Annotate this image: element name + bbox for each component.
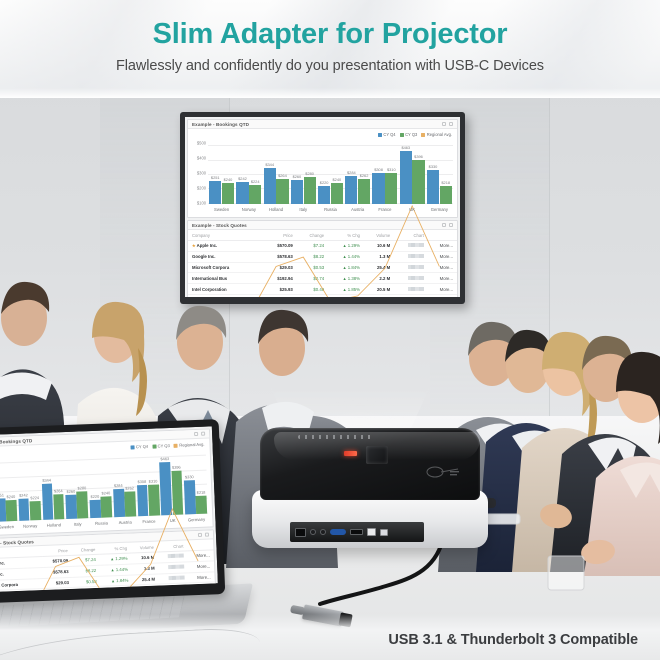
cell-sparkline xyxy=(394,273,428,284)
cell-pct-change: ▲ 1.38% xyxy=(101,585,133,592)
table-col-header[interactable]: Volume xyxy=(364,230,394,241)
audio-out-port-icon xyxy=(320,529,326,535)
legend-swatch-q3 xyxy=(152,444,156,448)
chart-bar-value-label: $284 xyxy=(347,170,356,175)
power-port-icon xyxy=(295,528,306,537)
chart-x-label: Italy xyxy=(66,519,90,532)
cell-price: $25.93 xyxy=(264,284,297,295)
bookings-panel-title: Example - Bookings QTD xyxy=(192,122,249,127)
table-col-header[interactable]: Price xyxy=(264,230,297,241)
chart-bar-value-label: $310 xyxy=(149,478,158,483)
usb-port-icon xyxy=(380,529,388,536)
bookings-panel: Example - Bookings QTD CY Q4 xyxy=(187,119,458,218)
table-col-header[interactable]: Change xyxy=(297,230,328,241)
gear-icon[interactable] xyxy=(449,223,453,227)
chart-bar-value-label: $240 xyxy=(333,177,342,182)
chart-bar-value-label: $264 xyxy=(278,173,287,178)
cell-volume: 20.5 M xyxy=(364,284,394,295)
compatibility-text: USB 3.1 & Thunderbolt 3 Compatible xyxy=(388,632,638,648)
chart-bar-q4: $260 xyxy=(291,180,303,204)
chart-bar-q3: $310 xyxy=(148,484,160,516)
cell-volume: 25.4 M xyxy=(364,262,394,273)
y-tick-100: $100 xyxy=(197,200,206,205)
chart-bar-value-label: $260 xyxy=(293,174,302,179)
cell-company: Google Inc. xyxy=(188,251,264,262)
total-pct: 1.70% xyxy=(328,294,364,297)
chart-bar-value-label: $251 xyxy=(0,492,4,497)
chart-plot-area: $251$240$242$224$344$264$260$280$220$240… xyxy=(208,144,453,204)
sparkline-icon xyxy=(408,243,424,247)
table-row[interactable]: Microsoft Corpora$29.03$0.53▲ 1.84%25.4 … xyxy=(188,262,457,273)
chart-bar-q4: $330 xyxy=(184,480,196,515)
sparkline-icon xyxy=(408,254,424,258)
footer-curve-accent xyxy=(0,626,261,660)
cell-sparkline xyxy=(394,284,428,295)
chart-bar-value-label: $240 xyxy=(101,490,110,495)
y-tick-400: $400 xyxy=(197,156,206,161)
gear-icon[interactable] xyxy=(201,432,205,436)
page-title: Slim Adapter for Projector xyxy=(0,18,660,51)
table-col-header[interactable] xyxy=(428,230,457,241)
chart-bar-group: $260$280 xyxy=(290,144,317,204)
chart-x-label: Holland xyxy=(262,205,289,217)
chart-bar-group: $330$218 xyxy=(182,454,208,515)
chart-bar-group: $463$396 xyxy=(158,455,184,516)
cell-pct-change: ▲ 1.84% xyxy=(328,262,364,273)
chart-x-label: France xyxy=(371,205,398,217)
cell-company: International Bus xyxy=(0,589,45,593)
chart-x-label: Austria xyxy=(113,517,137,530)
chart-bar-group: $242$224 xyxy=(16,460,42,521)
legend-item-q4: CY Q4 xyxy=(378,132,396,137)
chart-bar-q3: $240 xyxy=(222,183,234,204)
chart-bar-group: $344$264 xyxy=(40,459,66,520)
cell-more-link[interactable]: More... xyxy=(428,251,457,262)
stock-panel: Example - Stock Quotes CompanyPriceChang… xyxy=(187,220,458,297)
chart-bar-q3: $240 xyxy=(6,500,17,522)
cell-change: $0.53 xyxy=(297,262,328,273)
cell-pct-change: ▲ 1.29% xyxy=(328,241,364,252)
table-col-header[interactable]: Company xyxy=(188,230,264,241)
cell-volume: 2.2 M xyxy=(364,273,394,284)
expand-icon[interactable] xyxy=(442,122,446,126)
chart-bars: $251$240$242$224$344$264$260$280$220$240… xyxy=(0,454,208,522)
chart-bar-value-label: $330 xyxy=(429,164,438,169)
chart-bar-value-label: $218 xyxy=(197,489,206,494)
table-row[interactable]: Intel Corporation$25.93$0.49▲ 1.85%20.5 … xyxy=(188,284,457,295)
table-row[interactable]: ★ Apple Inc.$570.09$7.24▲ 1.29%10.6 MMor… xyxy=(188,241,457,252)
chart-bar-value-label: $262 xyxy=(360,173,369,178)
up-arrow-icon: ▲ xyxy=(343,276,347,281)
table-row[interactable]: International Bus$192.94$2.74▲ 1.38%2.2 … xyxy=(188,273,457,284)
up-arrow-icon: ▲ xyxy=(343,254,347,259)
cell-company: Intel Corporation xyxy=(188,284,264,295)
legend-item-avg: Regional Avg. xyxy=(421,132,452,137)
chart-y-axis: $500 $400 $300 $200 $100 xyxy=(188,142,208,204)
cell-more-link[interactable]: More... xyxy=(428,241,457,252)
projector-brand-logo xyxy=(426,466,460,478)
cell-volume: 1.3 M xyxy=(364,251,394,262)
y-tick-500: $500 xyxy=(197,141,206,146)
legend-swatch-q4 xyxy=(130,445,134,449)
chart-bar-q3: $240 xyxy=(101,496,112,518)
stock-panel-header: Example - Stock Quotes xyxy=(188,221,457,230)
chart-bar-value-label: $344 xyxy=(42,477,51,482)
legend-swatch-q3 xyxy=(400,133,404,137)
sparkline-icon xyxy=(408,265,424,269)
legend-label-q4: CY Q4 xyxy=(383,132,395,137)
chart-bar-group: $308$310 xyxy=(135,455,161,516)
chart-bar-value-label: $262 xyxy=(125,486,134,491)
chart-bar-value-label: $463 xyxy=(401,145,410,150)
cell-volume: 10.6 M xyxy=(364,241,394,252)
chart-bar-q4: $242 xyxy=(236,182,248,204)
chart-x-label: Italy xyxy=(290,205,317,217)
chart-bar-q4: $251 xyxy=(209,181,221,204)
chart-bar-value-label: $220 xyxy=(90,493,99,498)
chart-bar-value-label: $310 xyxy=(387,167,396,172)
projector-power-led-icon xyxy=(344,451,357,456)
bookings-panel-title-laptop: Example - Bookings QTD xyxy=(0,438,32,445)
up-arrow-icon: ▲ xyxy=(111,578,115,583)
cell-volume: 2.2 M xyxy=(133,584,160,592)
up-arrow-icon: ▲ xyxy=(110,557,114,562)
stock-panel-title: Example - Stock Quotes xyxy=(192,223,247,228)
cell-price: $29.03 xyxy=(264,262,297,273)
chart-bar-q3: $396 xyxy=(171,471,183,515)
chart-bar-group: $251$240 xyxy=(208,144,235,204)
chart-bar-value-label: $260 xyxy=(66,488,75,493)
chart-bar-q4: $308 xyxy=(372,173,384,204)
expand-icon[interactable] xyxy=(442,223,446,227)
legend-swatch-avg xyxy=(421,133,425,137)
product-image-stage: Example - Bookings QTD CY Q4 xyxy=(0,0,660,660)
chart-bar-value-label: $280 xyxy=(305,171,314,176)
chart-bar-value-label: $396 xyxy=(172,465,181,470)
chart-x-label: France xyxy=(137,516,161,529)
chart-bar-q3: $218 xyxy=(196,495,207,514)
cell-pct-change: ▲ 1.38% xyxy=(328,273,364,284)
y-tick-200: $200 xyxy=(197,185,206,190)
chart-bar-q3: $396 xyxy=(412,160,424,204)
projector-lens-icon xyxy=(366,446,388,464)
chart-bar-q4: $220 xyxy=(318,186,330,204)
chart-bar-group: $344$264 xyxy=(262,144,289,204)
banner-footer: USB 3.1 & Thunderbolt 3 Compatible xyxy=(0,614,660,660)
cell-company: ★ Apple Inc. xyxy=(188,241,264,252)
sparkline-icon xyxy=(408,287,424,291)
chart-bar-q4: $308 xyxy=(137,485,149,517)
chart-bar-value-label: $396 xyxy=(414,154,423,159)
chart-x-label: Russia xyxy=(317,205,344,217)
chart-bar-group: $308$310 xyxy=(371,144,398,204)
chart-bar-group: $330$218 xyxy=(426,144,453,204)
projector-top-shell xyxy=(260,428,480,500)
chart-bar-q3: $218 xyxy=(440,186,452,204)
legend-label-avg: Regional Avg. xyxy=(427,132,452,137)
cell-more-link[interactable]: More... xyxy=(428,284,457,295)
chart-bar-q3: $264 xyxy=(276,179,288,204)
chart-bar-q4: $284 xyxy=(345,176,357,204)
legend-label-q4: CY Q4 xyxy=(136,444,148,449)
chart-bar-value-label: $463 xyxy=(160,456,169,461)
up-arrow-icon: ▲ xyxy=(111,589,115,593)
chart-x-label: Sweden xyxy=(208,205,235,217)
table-header-row: CompanyPriceChange% ChgVolumeChart xyxy=(188,230,457,241)
cell-pct-change: ▲ 1.85% xyxy=(328,284,364,295)
chart-bar-value-label: $224 xyxy=(30,495,39,500)
cell-pct-change: ▲ 1.44% xyxy=(328,251,364,262)
chart-bar-value-label: $240 xyxy=(224,177,233,182)
cell-price: $192.94 xyxy=(44,588,73,593)
chart-bar-value-label: $308 xyxy=(137,479,146,484)
chart-bar-q3: $280 xyxy=(304,177,316,204)
chart-bar-group: $220$240 xyxy=(317,144,344,204)
favorite-star-icon[interactable]: ★ xyxy=(192,243,196,248)
cell-sparkline xyxy=(394,251,428,262)
legend-item-q3: CY Q3 xyxy=(400,132,418,137)
cell-price: $570.09 xyxy=(264,241,297,252)
cell-company: Microsoft Corpora xyxy=(188,262,264,273)
chart-bar-q4: $330 xyxy=(427,170,439,204)
hdmi-port-icon xyxy=(350,529,363,535)
y-tick-300: $300 xyxy=(197,171,206,176)
chart-bar-q4: $242 xyxy=(18,499,30,521)
projector xyxy=(252,428,492,568)
legend-label-q3: CY Q3 xyxy=(405,132,417,137)
cell-change: $2.74 xyxy=(297,273,328,284)
banner-header: Slim Adapter for Projector Flawlessly an… xyxy=(0,0,660,98)
stock-panel-title-laptop: Example - Stock Quotes xyxy=(0,539,34,546)
chart-bar-q3: $310 xyxy=(385,173,397,204)
chart-bar-q3: $262 xyxy=(358,179,370,204)
chart-bar-q4: $260 xyxy=(66,494,78,519)
chart-bar-value-label: $284 xyxy=(114,483,123,488)
chart-bar-q3: $224 xyxy=(29,501,40,520)
stock-quotes-table: CompanyPriceChange% ChgVolumeChart ★ App… xyxy=(188,230,457,297)
gear-icon[interactable] xyxy=(449,122,453,126)
projector-vent-icon xyxy=(298,435,373,439)
table-col-header[interactable]: % Chg xyxy=(328,230,364,241)
chart-bar-value-label: $308 xyxy=(374,167,383,172)
chart-bar-q4: $284 xyxy=(113,489,125,517)
up-arrow-icon: ▲ xyxy=(343,265,347,270)
cell-change: $0.49 xyxy=(297,284,328,295)
chart-bar-q3: $262 xyxy=(124,492,136,517)
table-row[interactable]: Google Inc.$578.63$8.22▲ 1.44%1.3 MMore.… xyxy=(188,251,457,262)
table-col-header[interactable]: Chart xyxy=(394,230,428,241)
chart-x-label: Germany xyxy=(426,205,453,217)
cell-price: $578.63 xyxy=(264,251,297,262)
chart-bar-group: $260$280 xyxy=(63,458,89,519)
chart-x-axis: SwedenNorwayHollandItalyRussiaAustriaFra… xyxy=(208,205,453,217)
chart-x-label: Holland xyxy=(42,520,66,533)
up-arrow-icon: ▲ xyxy=(343,287,347,292)
cell-sparkline xyxy=(394,262,428,273)
chart-legend: CY Q4 CY Q3 Regional Avg. xyxy=(378,132,452,137)
chart-bar-value-label: $280 xyxy=(77,485,86,490)
legend-label-q3: CY Q3 xyxy=(158,443,170,448)
cell-more-link[interactable]: More... xyxy=(428,262,457,273)
up-arrow-icon: ▲ xyxy=(111,567,115,572)
chart-bar-group: $284$262 xyxy=(111,456,137,517)
chart-bar-group: $284$262 xyxy=(344,144,371,204)
sparkline-icon xyxy=(408,276,424,280)
chart-bar-q4: $463 xyxy=(400,151,412,204)
chart-bar-value-label: $344 xyxy=(265,162,274,167)
projector-port-strip xyxy=(290,522,424,542)
chart-bar-value-label: $220 xyxy=(320,180,329,185)
chart-x-label: Austria xyxy=(344,205,371,217)
chart-x-label: Norway xyxy=(18,521,42,534)
expand-icon[interactable] xyxy=(194,432,198,436)
dashboard-tv: Example - Bookings QTD CY Q4 xyxy=(185,117,460,297)
chart-bars: $251$240$242$224$344$264$260$280$220$240… xyxy=(208,144,453,204)
table-body: ★ Apple Inc.$570.09$7.24▲ 1.29%10.6 MMor… xyxy=(188,241,457,298)
chart-bar-q4: $463 xyxy=(160,462,173,516)
chart-bar-value-label: $224 xyxy=(251,179,260,184)
chart-bar-q4: $344 xyxy=(264,168,276,204)
cell-company: International Bus xyxy=(188,273,264,284)
chart-x-label: Sweden xyxy=(0,522,19,535)
chart-bar-q4: $220 xyxy=(90,499,101,518)
total-volume: 59.5 M xyxy=(364,294,394,297)
chart-bar-group: $463$396 xyxy=(399,144,426,204)
bookings-panel-header: Example - Bookings QTD xyxy=(188,120,457,129)
table-totals-row: 1.70%59.5 M xyxy=(188,294,457,297)
chart-bar-value-label: $264 xyxy=(54,488,63,493)
audio-port-icon xyxy=(310,529,316,535)
cell-change: $7.24 xyxy=(297,241,328,252)
cell-change: $8.22 xyxy=(297,251,328,262)
up-arrow-icon: ▲ xyxy=(343,243,347,248)
legend-swatch-q4 xyxy=(378,133,382,137)
chart-legend-laptop: CY Q4 CY Q3 Regional Avg. xyxy=(130,442,204,450)
chart-bar-value-label: $330 xyxy=(185,474,194,479)
cell-price: $192.94 xyxy=(264,273,297,284)
chart-bar-q3: $280 xyxy=(77,491,89,518)
chart-bar-q4: $344 xyxy=(41,483,53,520)
chart-bar-group: $220$240 xyxy=(87,457,113,518)
cell-change: $2.74 xyxy=(73,587,101,593)
ethernet-port-icon xyxy=(367,528,376,536)
cell-sparkline xyxy=(394,241,428,252)
cell-more-link[interactable]: More... xyxy=(428,273,457,284)
chart-bar-value-label: $242 xyxy=(238,176,247,181)
chart-bar-value-label: $251 xyxy=(211,175,220,180)
bookings-chart: CY Q4 CY Q3 Regional Avg. xyxy=(188,129,457,217)
chart-bar-value-label: $240 xyxy=(6,494,15,499)
chart-bar-q3: $240 xyxy=(331,183,343,204)
chart-bar-group: $242$224 xyxy=(235,144,262,204)
chart-bar-value-label: $218 xyxy=(441,180,450,185)
chart-bar-value-label: $242 xyxy=(19,493,28,498)
legend-label-avg: Regional Avg. xyxy=(179,442,204,448)
page-subtitle: Flawlessly and confidently do you presen… xyxy=(0,58,660,74)
chart-x-label: Norway xyxy=(235,205,262,217)
chart-plot-area-laptop: $251$240$242$224$344$264$260$280$220$240… xyxy=(0,454,208,522)
wall-display: Example - Bookings QTD CY Q4 xyxy=(180,112,465,304)
chart-bar-q3: $264 xyxy=(53,494,65,519)
vga-port-icon xyxy=(330,529,346,535)
chart-bar-q3: $224 xyxy=(249,185,261,204)
display-screen: Example - Bookings QTD CY Q4 xyxy=(185,117,460,297)
chart-x-label: UK xyxy=(399,205,426,217)
legend-swatch-avg xyxy=(174,443,178,447)
chart-x-label: Russia xyxy=(89,518,113,531)
